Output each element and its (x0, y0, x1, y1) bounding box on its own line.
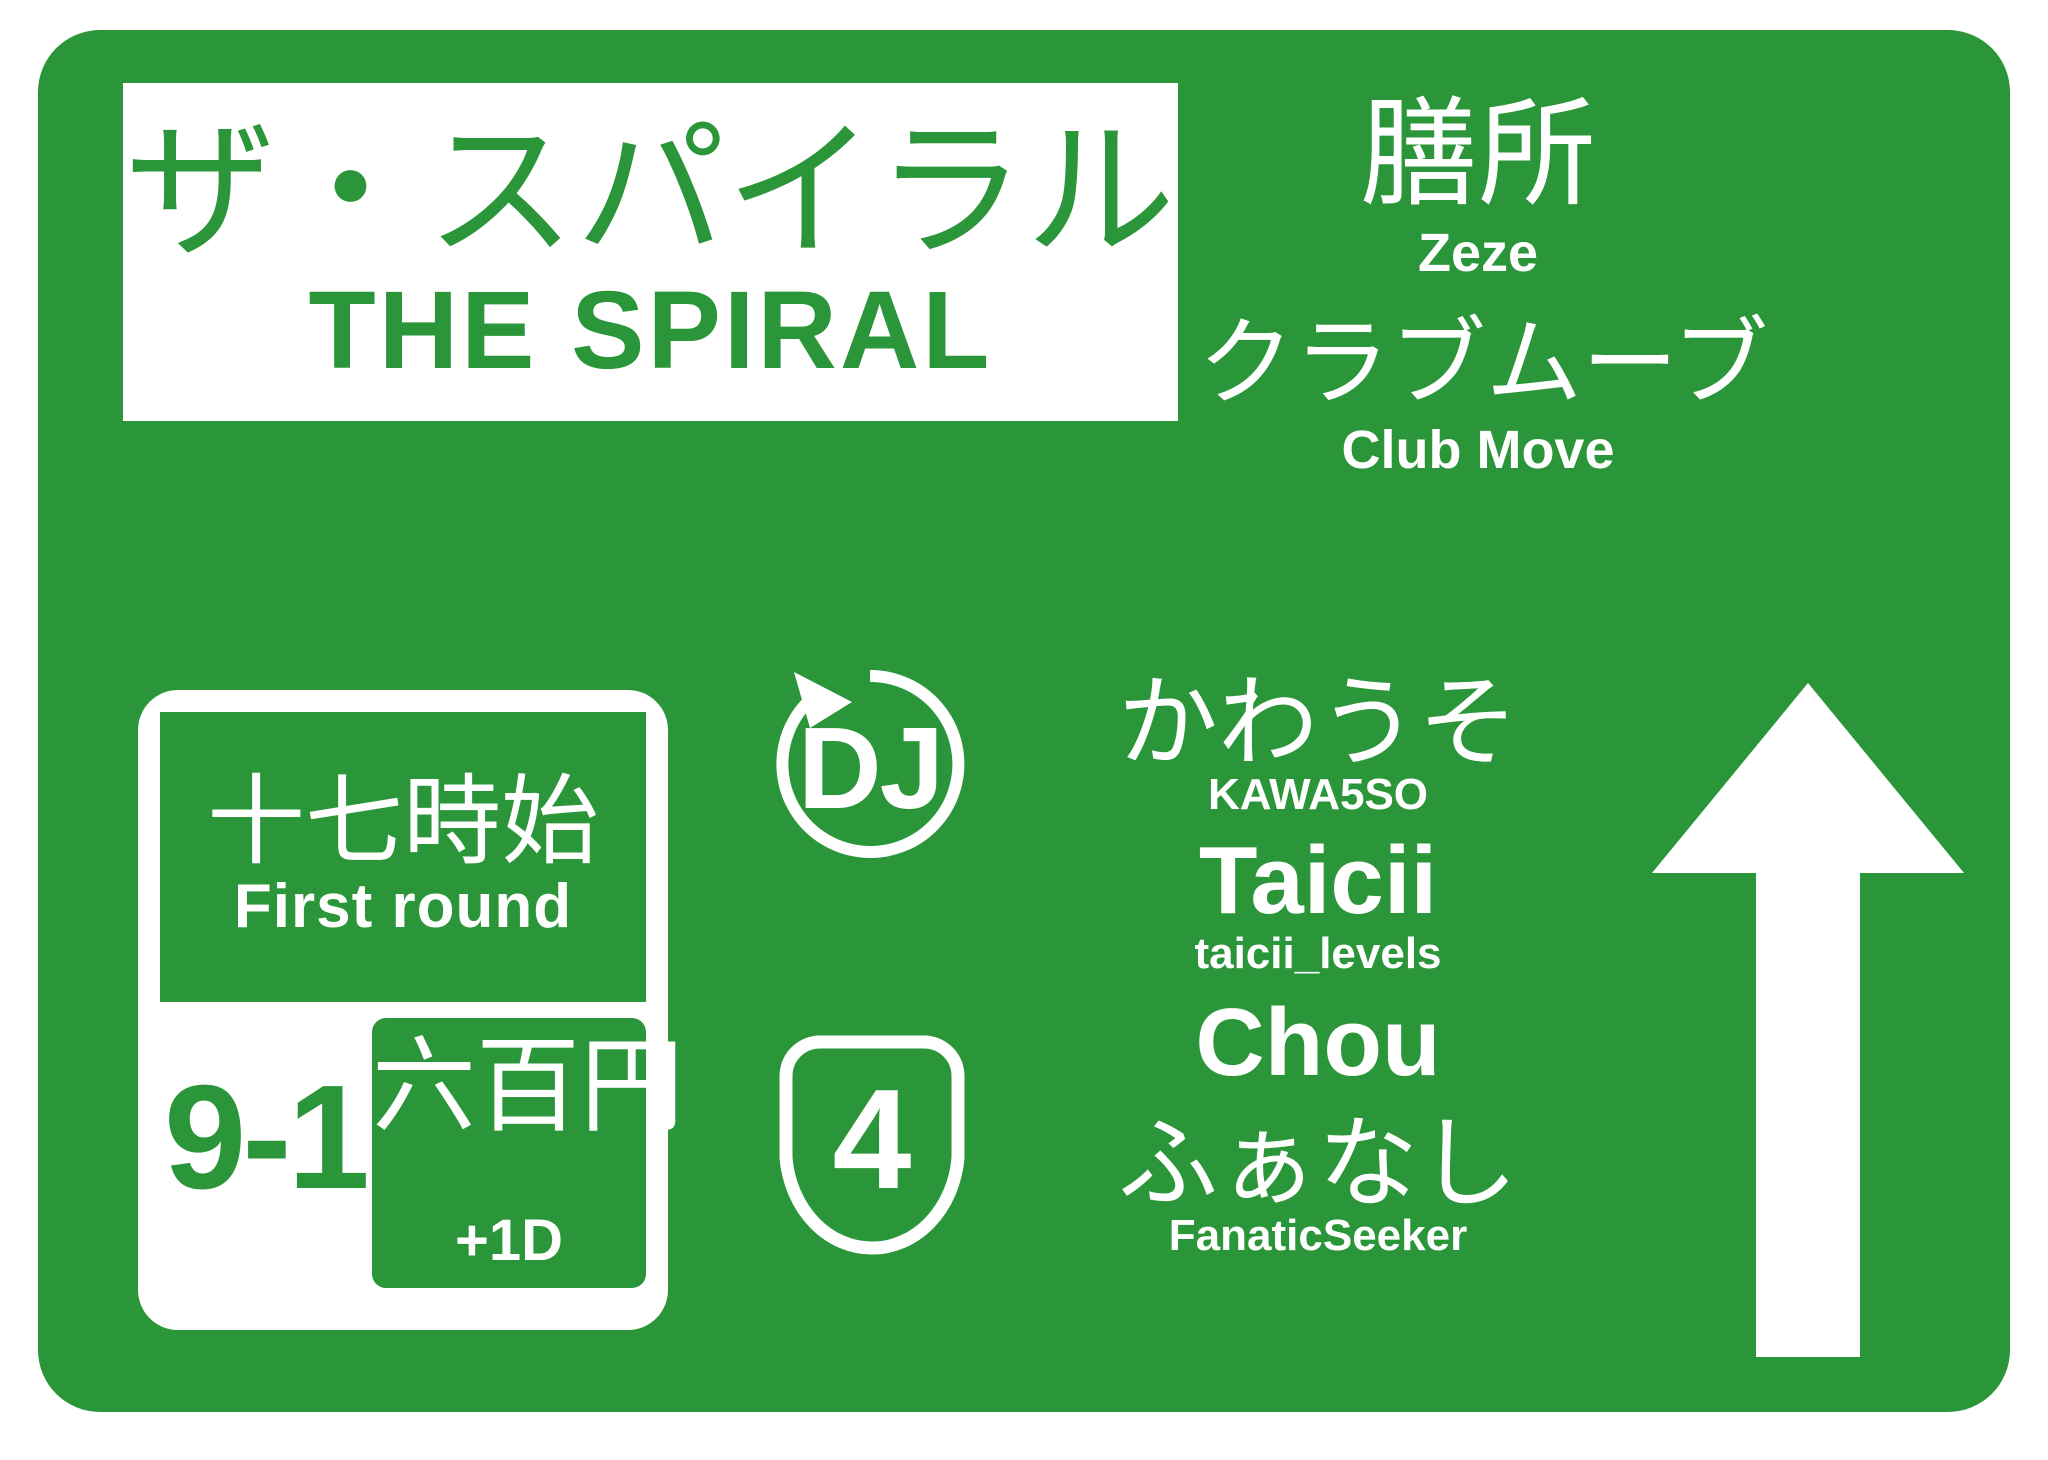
title-english: THE SPIRAL (309, 273, 993, 389)
artist-list: かわうそ KAWA5SO Taicii taicii_levels Chou ふ… (1038, 670, 1598, 1261)
price-chip: 六百円 +1D (372, 1018, 646, 1288)
artist-name: Taicii (1038, 831, 1598, 932)
first-round-panel: 十七時始 First round (160, 712, 646, 1002)
artist-handle: taicii_levels (1038, 930, 1598, 978)
title-japanese: ザ・スパイラル (125, 116, 1175, 269)
dj-badge-label: DJ (764, 658, 976, 870)
artist-name: ふぁなし (1038, 1111, 1598, 1216)
destination-english: Club Move (1198, 417, 1758, 485)
destination-japanese: クラブムーブ (1198, 311, 1758, 417)
price-extra-drink: +1D (372, 1212, 646, 1270)
artist-item: かわうそ KAWA5SO (1038, 670, 1598, 819)
slot-number: 9-1 (164, 1064, 366, 1212)
destination-list: 膳所 Zeze クラブムーブ Club Move (1198, 90, 1758, 484)
destination-item-club-move: クラブムーブ Club Move (1198, 311, 1758, 484)
artist-count-badge: 4 (774, 1030, 970, 1260)
price-japanese: 六百円 (372, 1034, 646, 1138)
direction-arrow (1648, 675, 1968, 1365)
dj-badge: DJ (764, 658, 976, 870)
event-info-box: 十七時始 First round 9-1 六百円 +1D (138, 690, 668, 1330)
destination-japanese: 膳所 (1198, 90, 1758, 220)
artist-item: Taicii taicii_levels (1038, 831, 1598, 978)
road-sign-board: ザ・スパイラル THE SPIRAL 膳所 Zeze クラブムーブ Club M… (38, 30, 2010, 1412)
arrow-up-icon (1648, 675, 1968, 1365)
artist-item: Chou (1038, 993, 1598, 1094)
first-round-english: First round (234, 873, 572, 941)
title-panel: ザ・スパイラル THE SPIRAL (123, 83, 1178, 421)
destination-english: Zeze (1198, 220, 1758, 288)
artist-item: ふぁなし FanaticSeeker (1038, 1111, 1598, 1260)
artist-name: かわうそ (1038, 670, 1598, 775)
artist-count-label: 4 (774, 1030, 970, 1260)
slot-and-price-panel: 9-1 六百円 +1D (160, 1010, 646, 1308)
first-round-japanese: 十七時始 (207, 772, 599, 873)
artist-name: Chou (1038, 993, 1598, 1094)
destination-item-zeze: 膳所 Zeze (1198, 90, 1758, 287)
